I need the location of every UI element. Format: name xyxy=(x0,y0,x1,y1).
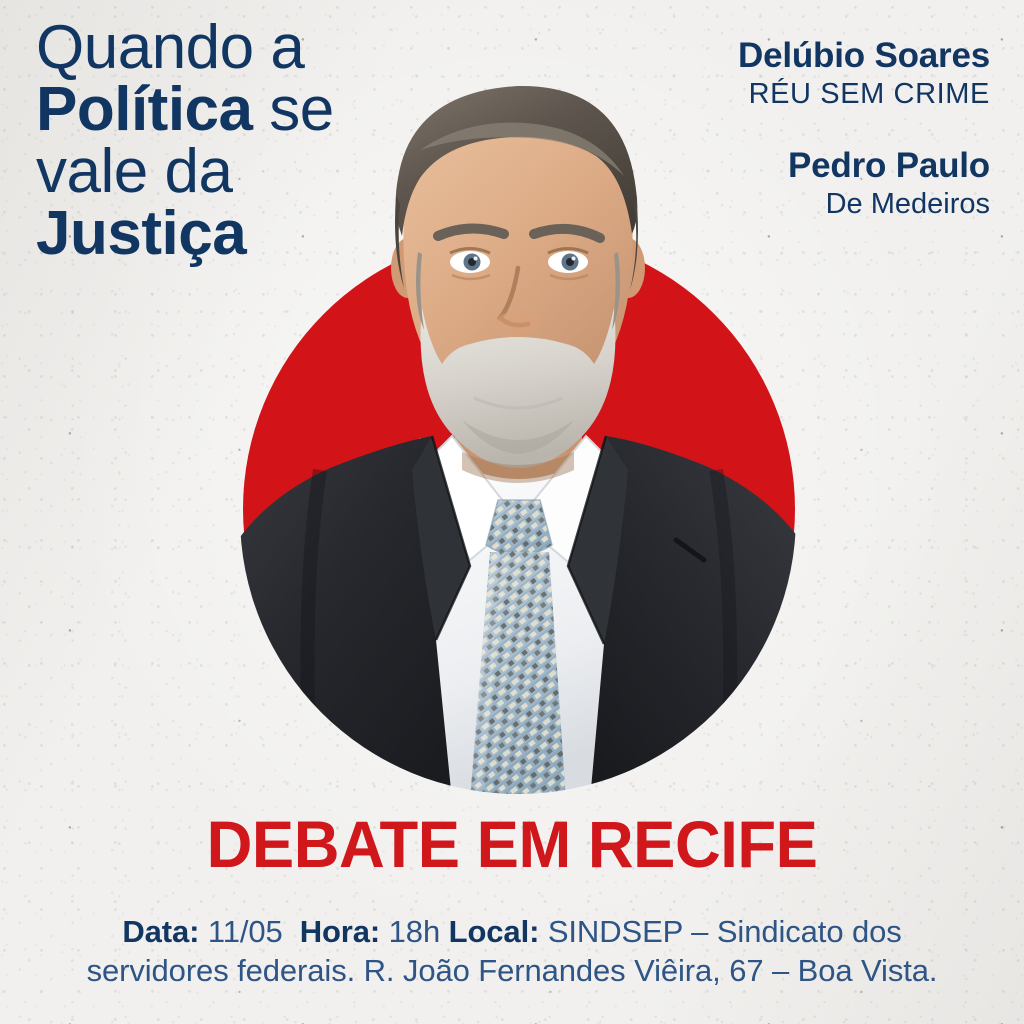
headline-emphasis-politica: Política xyxy=(36,75,253,144)
speaker-pedro-paulo: Pedro Paulo De Medeiros xyxy=(738,146,990,222)
sep-4 xyxy=(539,914,548,949)
sep-1 xyxy=(283,914,300,949)
speaker-role: De Medeiros xyxy=(738,187,990,222)
date-value-space xyxy=(199,914,208,949)
headline-line-1: Quando a xyxy=(36,18,334,78)
headline: Quando a Política se vale da Justiça xyxy=(36,18,334,265)
headline-line-3: vale da xyxy=(36,142,334,202)
speaker-list: Delúbio Soares RÉU SEM CRIME Pedro Paulo… xyxy=(738,36,990,222)
speaker-name: Pedro Paulo xyxy=(738,146,990,185)
event-title: DEBATE EM RECIFE xyxy=(20,806,1003,882)
speaker-role: RÉU SEM CRIME xyxy=(738,77,990,112)
event-details: Data: 11/05 Hora: 18h Local: SINDSEP – S… xyxy=(52,912,972,990)
event-poster: Quando a Política se vale da Justiça Del… xyxy=(0,0,1024,1024)
speaker-name: Delúbio Soares xyxy=(738,36,990,75)
speaker-delubio-soares: Delúbio Soares RÉU SEM CRIME xyxy=(738,36,990,112)
headline-line-2-rest: se xyxy=(253,75,334,144)
headline-line-2: Política se xyxy=(36,80,334,140)
sep-2 xyxy=(380,914,389,949)
date-label: Data: xyxy=(122,914,199,949)
time-value: 18h xyxy=(389,914,440,949)
time-label: Hora: xyxy=(300,914,380,949)
sep-3 xyxy=(440,914,449,949)
place-label: Local: xyxy=(449,914,540,949)
headline-line-4-justica: Justiça xyxy=(36,204,334,264)
date-value: 11/05 xyxy=(208,914,283,949)
